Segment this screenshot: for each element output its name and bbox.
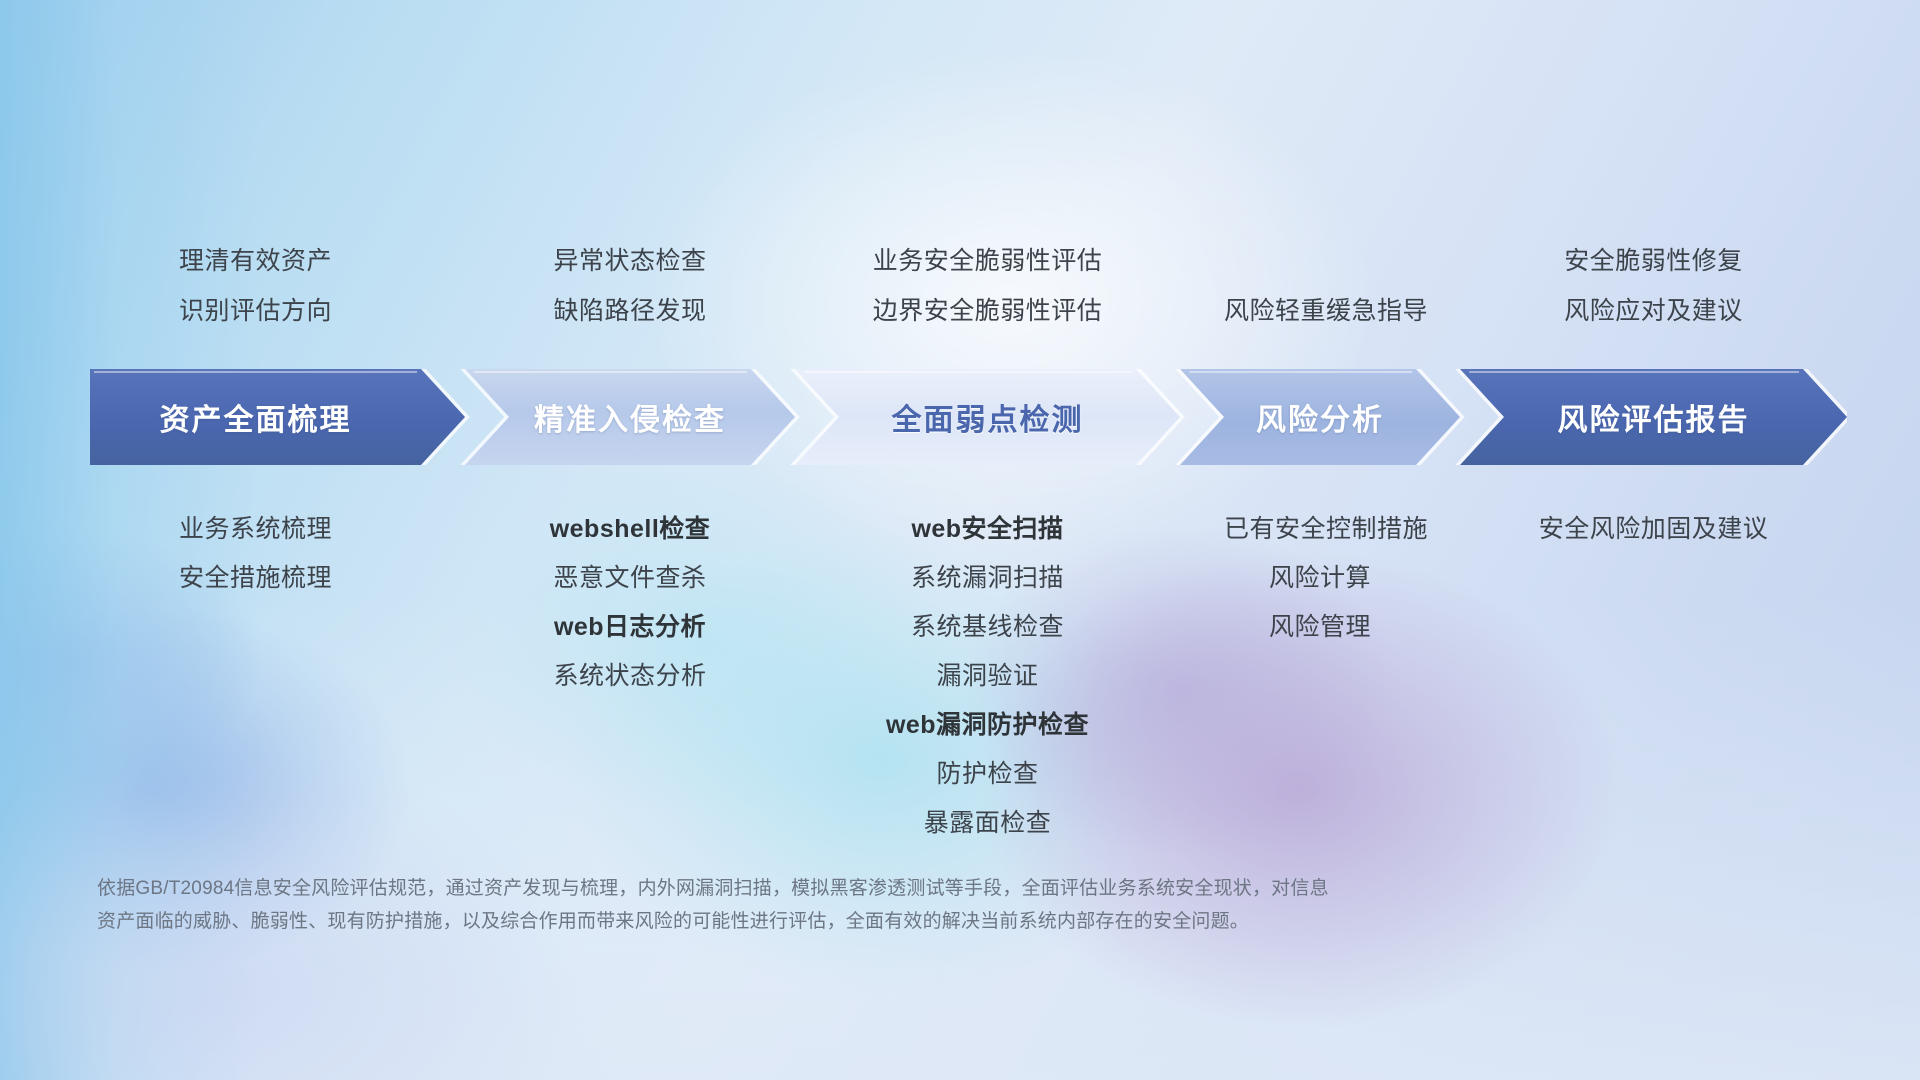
- bottom-item: 系统漏洞扫描: [839, 554, 1136, 603]
- bottom-item: 安全风险加固及建议: [1504, 505, 1803, 554]
- bottom-item: web漏洞防护检查: [839, 701, 1136, 750]
- top-item: 业务安全脆弱性评估: [839, 236, 1136, 286]
- top-item: 识别评估方向: [90, 286, 421, 336]
- chevron-label-risk-report[interactable]: 风险评估报告: [1504, 369, 1803, 465]
- chevron-label-asset-inventory[interactable]: 资产全面梳理: [90, 369, 421, 465]
- bottom-item: 风险计算: [1224, 554, 1416, 603]
- bottom-column-risk-analysis: 已有安全控制措施风险计算风险管理: [1224, 505, 1416, 652]
- footnote-line-2: 资产面临的威胁、脆弱性、现有防护措施，以及综合作用而带来风险的可能性进行评估，全…: [97, 905, 1657, 938]
- bottom-item: 恶意文件查杀: [509, 554, 751, 603]
- process-diagram: 理清有效资产识别评估方向异常状态检查缺陷路径发现业务安全脆弱性评估边界安全脆弱性…: [0, 0, 1920, 1080]
- chevron-label-weakness-detection[interactable]: 全面弱点检测: [839, 369, 1136, 465]
- bottom-column-risk-report: 安全风险加固及建议: [1504, 505, 1803, 554]
- top-item: 边界安全脆弱性评估: [839, 286, 1136, 336]
- chevron-label-risk-analysis[interactable]: 风险分析: [1224, 369, 1416, 465]
- footnote: 依据GB/T20984信息安全风险评估规范，通过资产发现与梳理，内外网漏洞扫描，…: [97, 872, 1657, 938]
- bottom-items-row: 业务系统梳理安全措施梳理webshell检查恶意文件查杀web日志分析系统状态分…: [90, 505, 1845, 865]
- top-item: 安全脆弱性修复: [1504, 236, 1803, 286]
- bottom-item: web安全扫描: [839, 505, 1136, 554]
- bottom-item: 已有安全控制措施: [1224, 505, 1416, 554]
- bottom-item: 风险管理: [1224, 603, 1416, 652]
- top-item: 异常状态检查: [509, 236, 751, 286]
- top-column-risk-analysis: 风险轻重缓急指导: [1224, 236, 1416, 336]
- bottom-item: webshell检查: [509, 505, 751, 554]
- top-item: 风险轻重缓急指导: [1224, 286, 1416, 336]
- footnote-line-1: 依据GB/T20984信息安全风险评估规范，通过资产发现与梳理，内外网漏洞扫描，…: [97, 872, 1657, 905]
- bottom-item: 漏洞验证: [839, 652, 1136, 701]
- bottom-column-asset-inventory: 业务系统梳理安全措施梳理: [90, 505, 421, 603]
- bottom-item: 系统基线检查: [839, 603, 1136, 652]
- chevron-band: 资产全面梳理精准入侵检查全面弱点检测风险分析风险评估报告: [90, 369, 1847, 465]
- chevron-label-intrusion-check[interactable]: 精准入侵检查: [509, 369, 751, 465]
- top-column-weakness-detection: 业务安全脆弱性评估边界安全脆弱性评估: [839, 236, 1136, 336]
- top-items-row: 理清有效资产识别评估方向异常状态检查缺陷路径发现业务安全脆弱性评估边界安全脆弱性…: [90, 236, 1845, 336]
- top-item: 理清有效资产: [90, 236, 421, 286]
- top-column-intrusion-check: 异常状态检查缺陷路径发现: [509, 236, 751, 336]
- bottom-item: 安全措施梳理: [90, 554, 421, 603]
- top-item: 风险应对及建议: [1504, 286, 1803, 336]
- top-item: 缺陷路径发现: [509, 286, 751, 336]
- bottom-item: 业务系统梳理: [90, 505, 421, 554]
- bottom-item: 暴露面检查: [839, 799, 1136, 848]
- bottom-column-intrusion-check: webshell检查恶意文件查杀web日志分析系统状态分析: [509, 505, 751, 701]
- top-column-asset-inventory: 理清有效资产识别评估方向: [90, 236, 421, 336]
- top-column-risk-report: 安全脆弱性修复风险应对及建议: [1504, 236, 1803, 336]
- bottom-column-weakness-detection: web安全扫描系统漏洞扫描系统基线检查漏洞验证web漏洞防护检查防护检查暴露面检…: [839, 505, 1136, 848]
- bottom-item: 系统状态分析: [509, 652, 751, 701]
- bottom-item: web日志分析: [509, 603, 751, 652]
- bottom-item: 防护检查: [839, 750, 1136, 799]
